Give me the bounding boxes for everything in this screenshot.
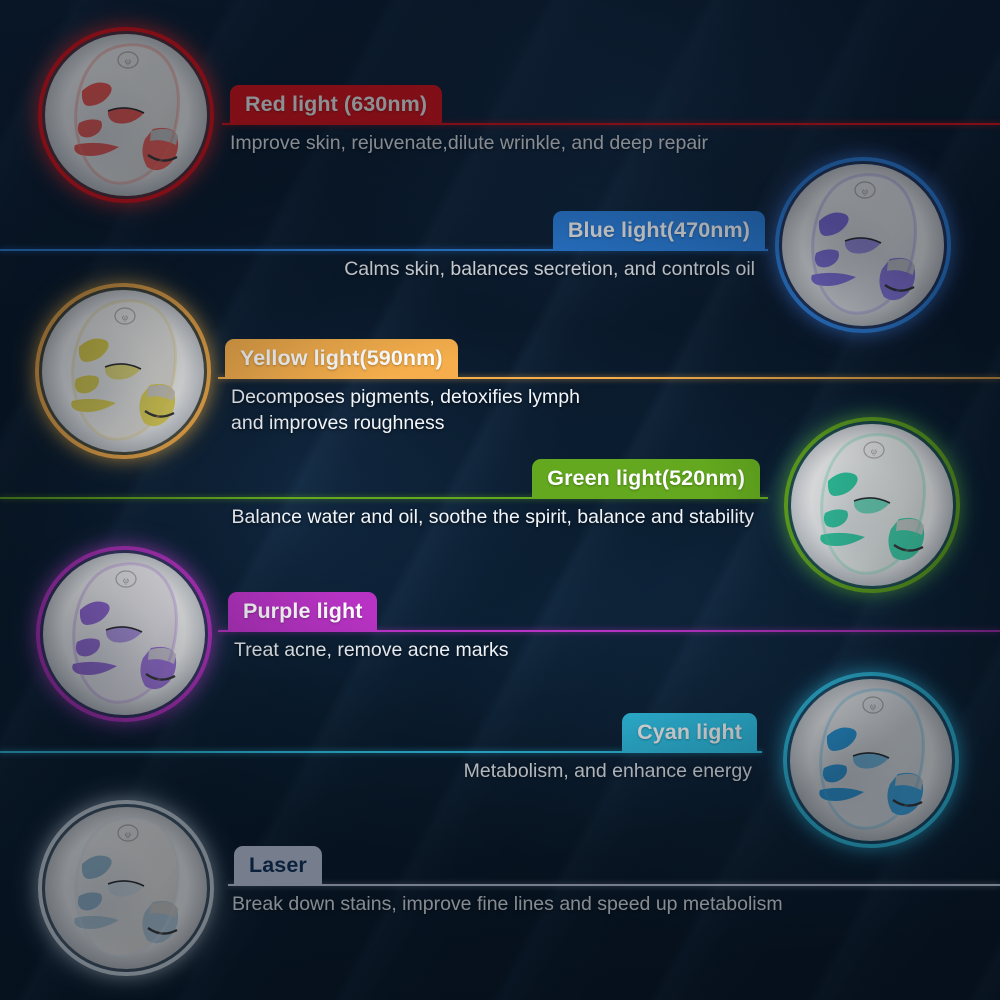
mask-illustration: ⍹ <box>38 27 214 203</box>
mask-illustration: ⍹ <box>38 800 214 976</box>
led-mask-cyan: ⍹ <box>783 672 959 848</box>
badge-red[interactable]: Red light (630nm) <box>230 85 442 124</box>
badge-laser[interactable]: Laser <box>234 846 322 885</box>
svg-text:⍹: ⍹ <box>123 575 129 585</box>
infographic-canvas: ⍹ Red light (630nm) Improve skin, rejuve… <box>0 0 1000 1000</box>
description-cyan: Metabolism, and enhance energy <box>464 758 752 784</box>
description-red: Improve skin, rejuvenate,dilute wrinkle,… <box>230 130 708 156</box>
description-yellow: Decomposes pigments, detoxifies lymph an… <box>231 384 580 436</box>
description-purple: Treat acne, remove acne marks <box>234 637 509 663</box>
led-mask-laser: ⍹ <box>38 800 214 976</box>
svg-text:⍹: ⍹ <box>862 186 868 196</box>
mask-illustration: ⍹ <box>775 157 951 333</box>
led-mask-blue: ⍹ <box>775 157 951 333</box>
led-mask-red: ⍹ <box>38 27 214 203</box>
svg-text:⍹: ⍹ <box>122 312 128 322</box>
led-mask-purple: ⍹ <box>36 546 212 722</box>
divider-laser <box>228 884 1000 886</box>
badge-cyan[interactable]: Cyan light <box>622 713 757 752</box>
svg-text:⍹: ⍹ <box>125 56 131 66</box>
svg-text:⍹: ⍹ <box>871 446 877 456</box>
description-laser: Break down stains, improve fine lines an… <box>232 891 783 917</box>
description-blue: Calms skin, balances secretion, and cont… <box>344 256 755 282</box>
led-mask-green: ⍹ <box>784 417 960 593</box>
svg-text:⍹: ⍹ <box>870 701 876 711</box>
mask-illustration: ⍹ <box>784 417 960 593</box>
badge-blue[interactable]: Blue light(470nm) <box>553 211 765 250</box>
description-green: Balance water and oil, soothe the spirit… <box>232 504 754 530</box>
mask-illustration: ⍹ <box>36 546 212 722</box>
badge-purple[interactable]: Purple light <box>228 592 377 631</box>
led-mask-yellow: ⍹ <box>35 283 211 459</box>
mask-illustration: ⍹ <box>35 283 211 459</box>
mask-illustration: ⍹ <box>783 672 959 848</box>
badge-green[interactable]: Green light(520nm) <box>532 459 760 498</box>
svg-text:⍹: ⍹ <box>125 829 131 839</box>
badge-yellow[interactable]: Yellow light(590nm) <box>225 339 458 378</box>
